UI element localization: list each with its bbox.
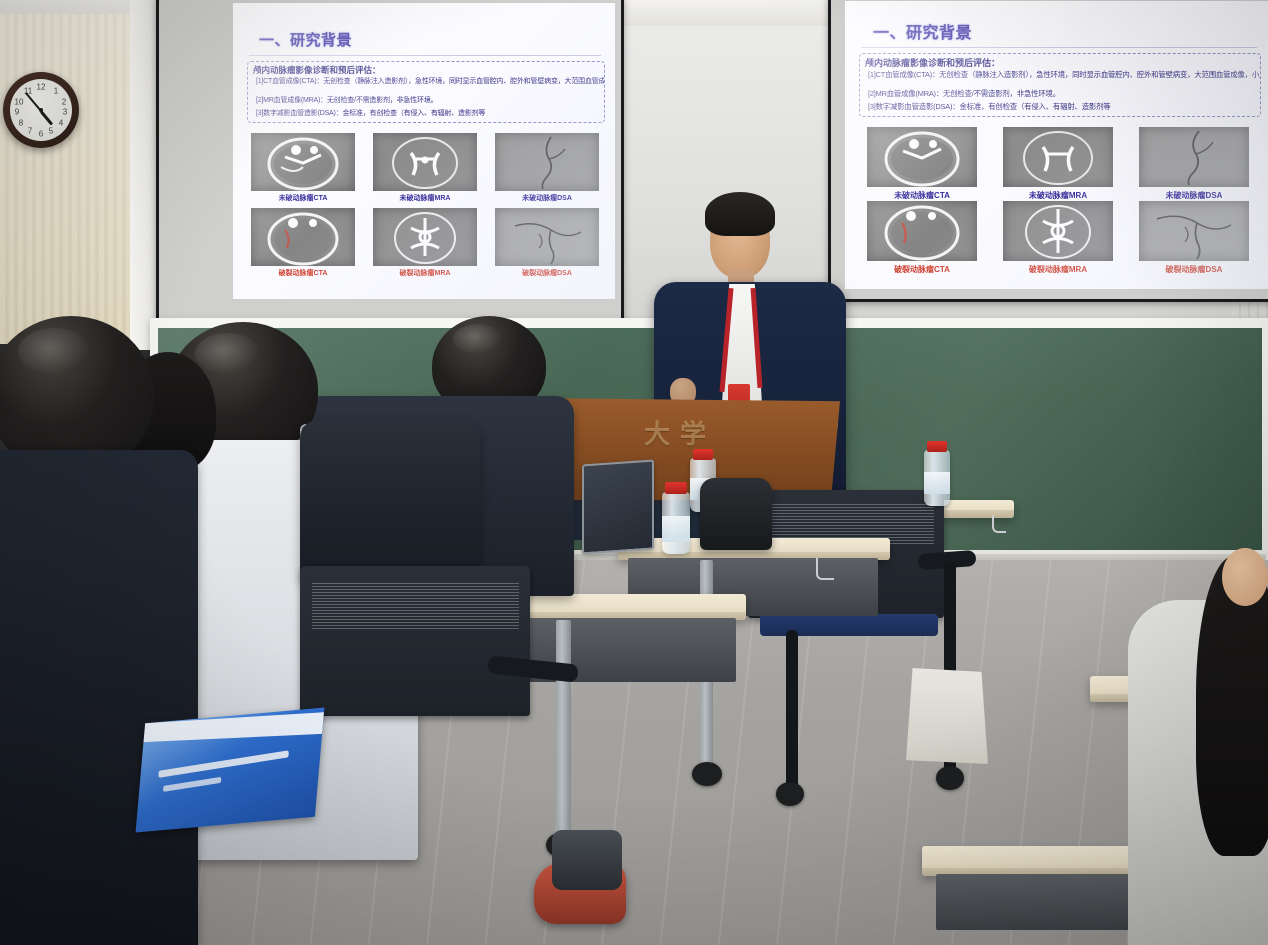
slide-thumbnail: [251, 208, 355, 266]
screen-left-surface: 一、研究背景 颅内动脉瘤影像诊断和预后评估： [1]CT血管成像(CTA)：无创…: [233, 3, 615, 299]
slide-thumbnail: [867, 127, 977, 187]
speaker-hair: [705, 192, 775, 236]
water-bottle: [924, 450, 950, 506]
slide-thumbnail: [251, 133, 355, 191]
slide-thumbnail-caption: 未破动脉瘤CTA: [861, 190, 983, 201]
bottle-cap: [693, 449, 713, 460]
desk-hook: [816, 558, 834, 580]
wall-clock: 12 1 2 3 4 5 6 7 8 9 10 11: [3, 72, 79, 148]
projection-screen-right: 一、研究背景 颅内动脉瘤影像诊断和预后评估： [1]CT血管成像(CTA)：无创…: [828, 0, 1268, 302]
bag: [552, 830, 622, 890]
backpack: [700, 478, 772, 550]
booklet: [136, 708, 325, 833]
slide-section-heading: 颅内动脉瘤影像诊断和预后评估：: [865, 56, 1000, 69]
slide-title: 一、研究背景: [259, 29, 352, 50]
slide-text-box: 颅内动脉瘤影像诊断和预后评估： [1]CT血管成像(CTA)：无创检查（静脉注入…: [859, 53, 1261, 117]
slide-thumbnail: [1139, 201, 1249, 261]
slide-thumbnail: [495, 208, 599, 266]
lecture-hall-photo: 12 1 2 3 4 5 6 7 8 9 10 11 一、研究背景 颅内动脉瘤影…: [0, 0, 1268, 945]
slide-bullet-1: [1]CT血管成像(CTA)：无创检查（静脉注入造影剂），急性环境，同时显示血管…: [256, 76, 605, 86]
slide-thumbnail: [1003, 201, 1113, 261]
slide-left: 一、研究背景 颅内动脉瘤影像诊断和预后评估： [1]CT血管成像(CTA)：无创…: [233, 3, 615, 299]
slide-thumbnail: [373, 208, 477, 266]
bottle-cap: [665, 482, 687, 494]
slide-bullet-2: [2]MR血管成像(MRA)：无创检查/不需造影剂，非急性环境。: [868, 88, 1060, 99]
projection-screen-left: 一、研究背景 颅内动脉瘤影像诊断和预后评估： [1]CT血管成像(CTA)：无创…: [156, 0, 624, 322]
audience-head: [0, 316, 154, 472]
slide-thumbnail-caption: 破裂动脉瘤MRA: [369, 268, 481, 278]
audience-head: [1222, 548, 1268, 606]
slide-section-heading: 颅内动脉瘤影像诊断和预后评估：: [253, 64, 381, 76]
slide-thumbnail-caption: 未破动脉瘤DSA: [491, 193, 603, 203]
slide-bullet-3: [3]数字减影血管造影(DSA)：金标准，有创检查（有侵入、有辐射、造影剂等: [256, 108, 485, 118]
slide-thumbnail: [1139, 127, 1249, 187]
tote-bag: [906, 668, 988, 764]
slide-title: 一、研究背景: [873, 19, 972, 43]
slide-thumbnail-caption: 破裂动脉瘤DSA: [1133, 264, 1255, 275]
slide-thumbnail-caption: 破裂动脉瘤MRA: [997, 264, 1119, 275]
slide-thumbnail: [1003, 127, 1113, 187]
clock-hour-hand: [40, 111, 53, 126]
bottle-cap: [927, 441, 947, 452]
slide-right: 一、研究背景 颅内动脉瘤影像诊断和预后评估： [1]CT血管成像(CTA)：无创…: [845, 1, 1268, 289]
slide-thumbnail: [373, 133, 477, 191]
slide-thumbnail: [867, 201, 977, 261]
slide-bullet-2: [2]MR血管成像(MRA)：无创检查/不需造影剂，非急性环境。: [256, 95, 437, 105]
audience-torso: [300, 420, 480, 580]
slide-thumbnail-caption: 未破动脉瘤DSA: [1133, 190, 1255, 201]
audience-torso: [0, 450, 198, 945]
desk-hook: [992, 515, 1006, 533]
slide-thumbnail-caption: 未破动脉瘤CTA: [247, 193, 359, 203]
slide-thumbnail: [495, 133, 599, 191]
laptop: [582, 459, 654, 554]
slide-thumbnail-caption: 破裂动脉瘤CTA: [247, 268, 359, 278]
slide-thumbnail-caption: 破裂动脉瘤DSA: [491, 268, 603, 278]
slide-bullet-1: [1]CT血管成像(CTA)：无创检查（静脉注入造影剂），急性环境，同时显示血管…: [868, 69, 1261, 80]
chair: [300, 566, 530, 716]
slide-text-box: 颅内动脉瘤影像诊断和预后评估： [1]CT血管成像(CTA)：无创检查（静脉注入…: [247, 61, 605, 123]
slide-thumbnail-caption: 破裂动脉瘤CTA: [861, 264, 983, 275]
slide-bullet-3: [3]数字减影血管造影(DSA)：金标准，有创检查（有侵入、有辐射、造影剂等: [868, 101, 1110, 112]
screen-right-surface: 一、研究背景 颅内动脉瘤影像诊断和预后评估： [1]CT血管成像(CTA)：无创…: [845, 1, 1268, 289]
water-bottle: [662, 492, 690, 554]
slide-thumbnail-caption: 未破动脉瘤MRA: [369, 193, 481, 203]
slide-thumbnail-caption: 未破动脉瘤MRA: [997, 190, 1119, 201]
